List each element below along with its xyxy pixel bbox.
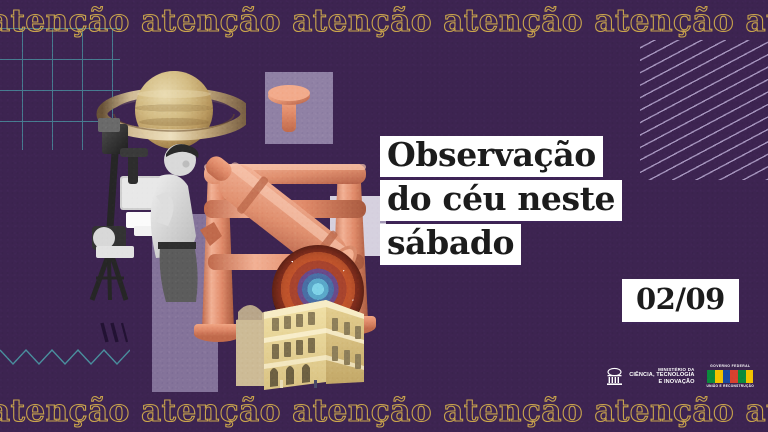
ministry-text: MINISTÉRIO DA CIÊNCIA, TECNOLOGIA E INOV…: [629, 367, 694, 385]
ministry-line-3: E INOVAÇÃO: [659, 379, 695, 385]
government-top-label: GOVERNO FEDERAL: [710, 364, 750, 368]
tick-marks-decoration: [98, 322, 128, 344]
government-bottom-label: UNIÃO E RECONSTRUÇÃO: [707, 384, 754, 388]
ministry-logo: MINISTÉRIO DA CIÊNCIA, TECNOLOGIA E INOV…: [606, 367, 694, 386]
headline-line-1: Observação: [380, 136, 603, 177]
top-attention-banner: atenção atenção atenção atenção atenção …: [0, 0, 768, 42]
date-badge: 02/09: [622, 279, 739, 322]
headline-block: Observação do céu neste sábado: [380, 136, 622, 265]
historic-observatory-building: [236, 292, 364, 390]
bottom-attention-banner: atenção atenção atenção atenção atenção …: [0, 390, 768, 432]
top-banner-text: atenção atenção atenção atenção atenção …: [0, 6, 768, 37]
zigzag-line-decoration: [0, 340, 130, 374]
republic-emblem-icon: [606, 367, 623, 386]
brasil-wordmark-blocks: [707, 370, 753, 383]
footer-logos: MINISTÉRIO DA CIÊNCIA, TECNOLOGIA E INOV…: [606, 364, 754, 388]
headline-line-2: do céu neste: [380, 180, 622, 221]
poster-canvas: Observação do céu neste sábado 02/09 MIN…: [0, 0, 768, 432]
bottom-banner-text: atenção atenção atenção atenção atenção …: [0, 396, 768, 427]
headline-line-3: sábado: [380, 224, 521, 265]
diagonal-hatch-decoration: [640, 40, 768, 180]
government-logo: GOVERNO FEDERAL UNIÃO E RECONSTRUÇÃO: [707, 364, 754, 388]
